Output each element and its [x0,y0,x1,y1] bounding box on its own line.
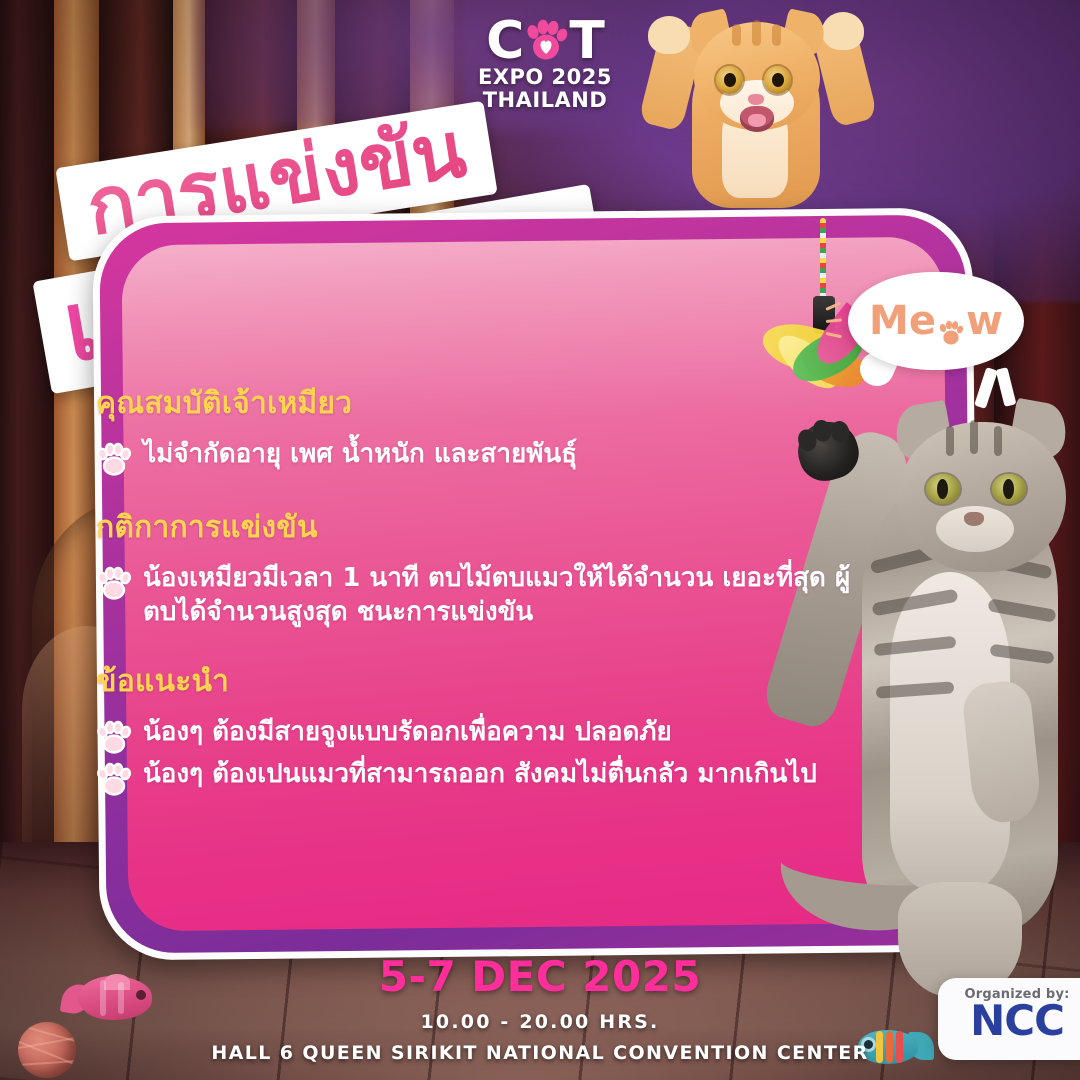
paw-icon [96,762,132,796]
event-date: 5-7 DEC 2025 [0,952,1080,1001]
logo-letter-t: T [569,18,603,65]
section-rules: กติกาการแข่งขัน น้องเหมียวมีเวลา 1 นาที … [96,504,856,630]
cat-whisker-tuft [978,368,1020,420]
meow-speech-bubble: Me w [848,272,1024,370]
organizer-badge: Organized by: NCC [938,978,1080,1060]
list-item: น้องๆ ต้องเปนแมวที่สามารถออก สังคมไม่ตื่… [96,758,856,796]
list-item: น้องเหมียวมีเวลา 1 นาที ตบไม้ตบแมวให้ได้… [96,562,856,630]
organizer-name: NCC [938,1000,1080,1043]
logo-letter-c: C [486,18,523,65]
section-heading: ข้อแนะนำ [96,658,856,705]
list-item: น้องๆ ต้องมีสายจูงแบบรัดอกเพื่อความ ปลอด… [96,716,856,754]
section-heading: คุณสมบัติเจ้าเหมียว [96,380,856,427]
list-item-text: ไม่จำกัดอายุ เพศ น้ำหนัก และสายพันธุ์ [143,438,577,472]
poster-canvas: C T EXPO 2025 THAILAND [0,0,1080,1080]
paw-icon [96,442,132,476]
meow-text-before: Me [869,298,936,344]
section-heading: กติกาการแข่งขัน [96,504,856,551]
event-hours: 10.00 - 20.00 HRS. [0,1011,1080,1033]
list-item-text: น้องๆ ต้องมีสายจูงแบบรัดอกเพื่อความ ปลอด… [143,716,672,750]
logo-subtitle-thailand: THAILAND [470,89,620,111]
list-item-text: น้องๆ ต้องเปนแมวที่สามารถออก สังคมไม่ตื่… [143,758,817,792]
logo-subtitle-expo: EXPO 2025 [470,66,620,88]
paw-icon [524,19,568,63]
paw-icon [96,566,132,600]
paw-icon [938,310,964,336]
list-item: ไม่จำกัดอายุ เพศ น้ำหนัก และสายพันธุ์ [96,438,856,476]
paw-icon [96,720,132,754]
section-qualifications: คุณสมบัติเจ้าเหมียว ไม่จำกัดอายุ เพศ น้ำ… [96,380,856,476]
bubble-text: Me w [848,272,1024,370]
event-venue: HALL 6 QUEEN SIRIKIT NATIONAL CONVENTION… [0,1042,1080,1064]
logo-wordmark: C T [470,18,620,65]
event-logo: C T EXPO 2025 THAILAND [470,18,620,111]
section-recommendations: ข้อแนะนำ น้องๆ ต้องมีสายจูงแบบรัดอกเพื่อ… [96,658,856,796]
card-content: คุณสมบัติเจ้าเหมียว ไม่จำกัดอายุ เพศ น้ำ… [96,380,856,800]
meow-text-after: w [966,298,1003,344]
list-item-text: น้องเหมียวมีเวลา 1 นาที ตบไม้ตบแมวให้ได้… [143,562,856,630]
poster-footer: 5-7 DEC 2025 10.00 - 20.00 HRS. HALL 6 Q… [0,952,1080,1064]
